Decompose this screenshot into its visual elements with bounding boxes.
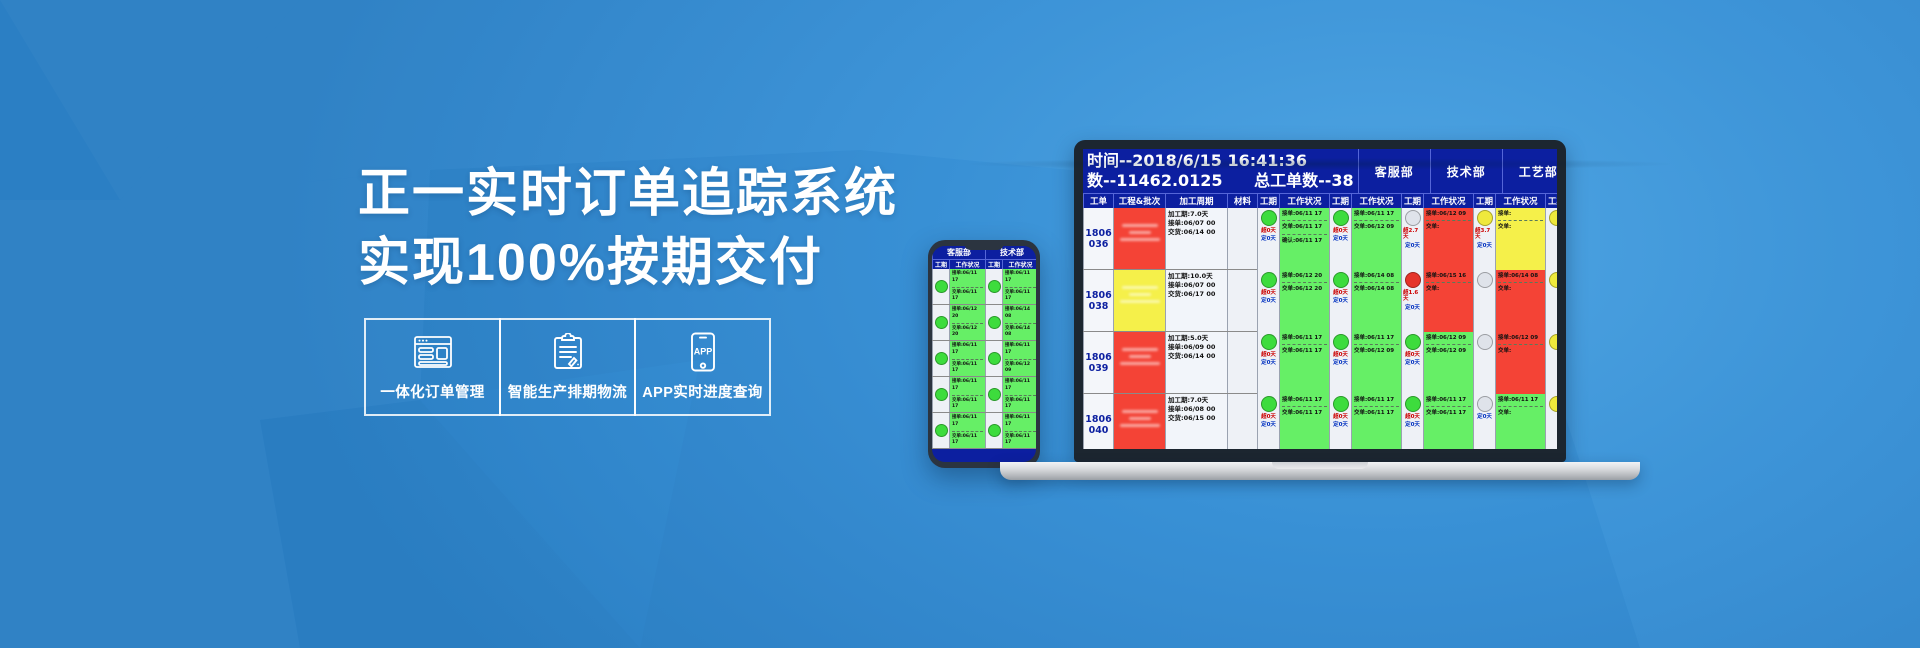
info-separator <box>1426 406 1471 407</box>
dept-duration-cell-5[interactable] <box>1545 270 1557 332</box>
order-grid: 1806036加工期:7.0天接单:06/07 00交货:06/14 00超0天… <box>1083 208 1557 449</box>
fixed-days-tag: 定0天 <box>1261 236 1276 242</box>
processing-cycle-cell: 加工期:10.0天接单:06/07 00交货:06/17 00 <box>1165 270 1227 331</box>
dept-status-cell-4[interactable]: 接单:06/11 17交单: <box>1495 394 1545 449</box>
redacted-text <box>1129 293 1151 296</box>
column-header-工程&批次: 工程&批次 <box>1113 193 1165 208</box>
status-dot-g <box>1333 334 1349 350</box>
phone-status-line: 接单:06/11 17 <box>952 379 983 393</box>
status-line: 接单:06/12 09 <box>1498 334 1543 342</box>
redacted-text <box>1122 410 1158 413</box>
status-line: 接单:06/11 17 <box>1282 334 1327 342</box>
phone-status-dot-g <box>988 424 1001 437</box>
over-days-tag: 超1.6天 <box>1403 290 1422 303</box>
fixed-days-tag: 定0天 <box>1477 243 1492 249</box>
status-line: 接单:06/12 09 <box>1426 210 1471 218</box>
fixed-days-tag: 定0天 <box>1405 360 1420 366</box>
table-row[interactable]: 1806038加工期:10.0天接单:06/07 00交货:06/17 00超0… <box>1083 270 1557 332</box>
processing-cycle-cell: 加工期:5.0天接单:06/09 00交货:06/14 00 <box>1165 332 1227 393</box>
info-separator <box>1282 234 1327 235</box>
dept-status-cell-1[interactable]: 接单:06/11 17交单:06/11 17 <box>1279 332 1329 394</box>
column-header-row: 工单工程&批次加工周期材料工期工作状况工期工作状况工期工作状况工期工作状况工期工… <box>1083 193 1557 208</box>
phone-status-line: 交单:06/11 17 <box>952 362 983 376</box>
column-header-工艺部-工期: 工期 <box>1401 193 1423 208</box>
cycle-text: 加工期:10.0天 <box>1168 272 1225 281</box>
work-order-prefix: 1806 <box>1085 414 1111 425</box>
table-row[interactable]: 1806040加工期:7.0天接单:06/08 00交货:06/15 00超0天… <box>1083 394 1557 449</box>
phone-status-line: 交单:06/11 17 <box>952 434 983 448</box>
column-header-生产部-工期: 工期 <box>1473 193 1495 208</box>
status-line: 接单:06/12 20 <box>1282 272 1327 280</box>
work-order-cell: 1806040 <box>1083 394 1113 449</box>
status-line: 接单:06/11 17 <box>1282 396 1327 404</box>
status-line: 接单:06/11 17 <box>1354 396 1399 404</box>
over-days-tag: 超2.7天 <box>1403 228 1422 241</box>
status-line: 接单:06/14 08 <box>1354 272 1399 280</box>
status-line: 交单: <box>1498 285 1543 293</box>
work-order-cell: 1806036 <box>1083 208 1113 269</box>
status-line: 交单:06/11 17 <box>1282 409 1327 417</box>
dept-duration-cell-4[interactable] <box>1473 270 1495 332</box>
column-header-工艺部-工作状况: 工作状况 <box>1423 193 1473 208</box>
phone-status-dot-g <box>988 388 1001 401</box>
info-separator <box>1498 344 1543 345</box>
feature-item-app-progress[interactable]: APP APP实时进度查询 <box>634 318 771 416</box>
table-row[interactable]: 1806036加工期:7.0天接单:06/07 00交货:06/14 00超0天… <box>1083 208 1557 270</box>
phone-column-header-客服部-工作状况: 工作状况 <box>949 259 985 269</box>
phone-dept-duration-cell-1[interactable] <box>932 413 949 448</box>
phone-dept-status-cell-1[interactable]: 接单:06/12 20交单:06/12 20 <box>949 305 985 340</box>
fixed-days-tag: 定0天 <box>1261 298 1276 304</box>
dept-status-cell-2[interactable]: 接单:06/11 17交单:06/12 09 <box>1351 208 1401 270</box>
window-list-icon <box>413 332 453 372</box>
info-separator <box>1282 406 1327 407</box>
dept-duration-cell-1[interactable]: 超0天定0天 <box>1257 332 1279 394</box>
feature-item-smart-scheduling[interactable]: 智能生产排期物流 <box>499 318 636 416</box>
fixed-days-tag: 定0天 <box>1405 243 1420 249</box>
fixed-days-tag: 定0天 <box>1333 298 1348 304</box>
phone-status-dot-g <box>935 280 948 293</box>
department-header-2: 技术部 <box>1430 149 1502 193</box>
status-line: 接单:06/14 08 <box>1498 272 1543 280</box>
status-dot-y <box>1549 210 1558 226</box>
laptop-shadow <box>970 158 1670 170</box>
column-header-工单: 工单 <box>1083 193 1113 208</box>
info-separator <box>1426 220 1471 221</box>
info-separator <box>1282 282 1327 283</box>
status-line: 接单:06/11 17 <box>1354 334 1399 342</box>
over-days-tag: 超0天 <box>1333 414 1348 420</box>
work-order-suffix: 040 <box>1089 425 1109 436</box>
over-days-tag: 超0天 <box>1333 352 1348 358</box>
status-line: 确认:06/11 17 <box>1282 237 1327 245</box>
info-separator <box>1354 406 1399 407</box>
status-line: 交单:06/11 17 <box>1282 223 1327 231</box>
dept-duration-cell-1[interactable]: 超0天定0天 <box>1257 208 1279 270</box>
dashboard-meta: 时间--2018/6/15 16:41:36 数--11462.0125 总工单… <box>1083 149 1358 193</box>
cycle-text: 加工期:5.0天 <box>1168 334 1225 343</box>
project-batch-cell <box>1113 270 1165 331</box>
phone-status-line: 接单:06/11 17 <box>952 415 983 429</box>
phone-status-dot-g <box>988 316 1001 329</box>
receive-date: 接单:06/08 00 <box>1168 405 1225 414</box>
deliver-date: 交货:06/15 00 <box>1168 414 1225 423</box>
page-title-line2: 实现100%按期交付 <box>358 229 918 298</box>
status-dot-g <box>1261 334 1277 350</box>
fixed-days-tag: 定0天 <box>1261 360 1276 366</box>
column-header-技术部-工作状况: 工作状况 <box>1351 193 1401 208</box>
status-line: 接单:06/11 17 <box>1354 210 1399 218</box>
dept-status-cell-4[interactable]: 接单:06/12 09交单: <box>1495 332 1545 394</box>
over-days-tag: 超0天 <box>1261 414 1276 420</box>
feature-label: 一体化订单管理 <box>380 381 484 402</box>
info-separator <box>1282 220 1327 221</box>
phone-status-line: 交单:06/11 17 <box>952 398 983 412</box>
dept-duration-cell-2[interactable]: 超0天定0天 <box>1329 208 1351 270</box>
status-line: 交单:06/12 09 <box>1426 347 1471 355</box>
status-dot-r <box>1405 272 1421 288</box>
redacted-text <box>1120 424 1160 427</box>
dept-duration-cell-5[interactable] <box>1545 332 1557 394</box>
status-line: 交单: <box>1498 223 1543 231</box>
phone-info-separator <box>952 323 983 324</box>
processing-cycle-cell: 加工期:7.0天接单:06/08 00交货:06/15 00 <box>1165 394 1227 449</box>
phone-dept-status-cell-1[interactable]: 接单:06/11 17交单:06/11 17 <box>949 341 985 376</box>
status-dot-y <box>1477 210 1493 226</box>
phone-dept-duration-cell-1[interactable] <box>932 269 949 304</box>
status-dot-w <box>1477 396 1493 412</box>
redacted-text <box>1122 348 1158 351</box>
column-header-生产部-工作状况: 工作状况 <box>1495 193 1545 208</box>
column-header-材料: 材料 <box>1227 193 1257 208</box>
laptop-screen[interactable]: 时间--2018/6/15 16:41:36 数--11462.0125 总工单… <box>1083 149 1557 449</box>
deliver-date: 交货:06/14 00 <box>1168 352 1225 361</box>
fixed-days-tag: 定0天 <box>1333 360 1348 366</box>
fixed-days-tag: 定0天 <box>1477 414 1492 420</box>
phone-status-line: 接单:06/11 17 <box>952 271 983 285</box>
dept-duration-cell-4[interactable]: 超3.7天定0天 <box>1473 208 1495 270</box>
dept-status-cell-3[interactable]: 接单:06/15 16交单: <box>1423 270 1473 332</box>
dept-status-cell-2[interactable]: 接单:06/11 17交单:06/11 17 <box>1351 394 1401 449</box>
deliver-date: 交货:06/14 00 <box>1168 228 1225 237</box>
phone-status-dot-g <box>935 388 948 401</box>
material-cell <box>1227 332 1257 393</box>
status-line: 交单:06/14 08 <box>1354 285 1399 293</box>
phone-info-separator <box>952 359 983 360</box>
column-header-客服部-工期: 工期 <box>1257 193 1279 208</box>
phone-status-line: 接单:06/12 20 <box>952 307 983 321</box>
dept-status-cell-1[interactable]: 接单:06/11 17交单:06/11 17确认:06/11 17 <box>1279 208 1329 270</box>
phone-info-separator <box>952 287 983 288</box>
feature-list: 一体化订单管理 智能生产排期物流 APP AP <box>364 318 769 416</box>
column-header-客服部-工作状况: 工作状况 <box>1279 193 1329 208</box>
phone-dept-duration-cell-1[interactable] <box>932 377 949 412</box>
phone-info-separator <box>952 395 983 396</box>
fixed-days-tag: 定0天 <box>1405 305 1420 311</box>
dept-status-cell-3[interactable]: 接单:06/12 09交单: <box>1423 208 1473 270</box>
over-days-tag: 超0天 <box>1333 290 1348 296</box>
redacted-text <box>1120 238 1160 241</box>
fixed-days-tag: 定0天 <box>1261 422 1276 428</box>
cycle-text: 加工期:7.0天 <box>1168 396 1225 405</box>
status-line: 交单: <box>1498 409 1543 417</box>
department-header-1: 客服部 <box>1358 149 1430 193</box>
dept-duration-cell-4[interactable]: 定0天 <box>1473 394 1495 449</box>
status-line: 交单:06/12 20 <box>1282 285 1327 293</box>
status-dot-g <box>1405 396 1421 412</box>
dept-status-cell-4[interactable]: 接单:06/14 08交单: <box>1495 270 1545 332</box>
page-title-line1: 正一实时订单追踪系统 <box>358 160 918 229</box>
laptop-device: 时间--2018/6/15 16:41:36 数--11462.0125 总工单… <box>1000 140 1640 480</box>
over-days-tag: 超0天 <box>1261 228 1276 234</box>
info-separator <box>1354 220 1399 221</box>
phone-status-line: 交单:06/12 20 <box>952 326 983 340</box>
work-order-suffix: 039 <box>1089 363 1109 374</box>
dashboard-header: 时间--2018/6/15 16:41:36 数--11462.0125 总工单… <box>1083 149 1557 193</box>
status-dot-g <box>1261 272 1277 288</box>
department-header-3: 工艺部 <box>1502 149 1557 193</box>
receive-date: 接单:06/07 00 <box>1168 281 1225 290</box>
phone-status-dot-g <box>935 316 948 329</box>
info-separator <box>1354 282 1399 283</box>
table-row[interactable]: 1806039加工期:5.0天接单:06/09 00交货:06/14 00超0天… <box>1083 332 1557 394</box>
feature-label: 智能生产排期物流 <box>508 381 627 402</box>
status-dot-g <box>1333 210 1349 226</box>
dept-duration-cell-4[interactable] <box>1473 332 1495 394</box>
info-separator <box>1498 220 1543 221</box>
redacted-text <box>1120 362 1160 365</box>
dept-duration-cell-1[interactable]: 超0天定0天 <box>1257 270 1279 332</box>
info-separator <box>1426 344 1471 345</box>
info-separator <box>1282 344 1327 345</box>
dept-duration-cell-5[interactable] <box>1545 208 1557 270</box>
processing-cycle-cell: 加工期:7.0天接单:06/07 00交货:06/14 00 <box>1165 208 1227 269</box>
status-line: 交单: <box>1426 285 1471 293</box>
dept-duration-cell-3[interactable]: 超1.6天定0天 <box>1401 270 1423 332</box>
receive-date: 接单:06/09 00 <box>1168 343 1225 352</box>
fixed-days-tag: 定0天 <box>1333 236 1348 242</box>
status-dot-w <box>1477 272 1493 288</box>
phone-dept-duration-cell-1[interactable] <box>932 305 949 340</box>
work-order-cell: 1806039 <box>1083 332 1113 393</box>
project-batch-cell <box>1113 394 1165 449</box>
over-days-tag: 超0天 <box>1405 414 1420 420</box>
status-line: 交单:06/12 09 <box>1354 223 1399 231</box>
status-line: 交单:06/11 17 <box>1282 347 1327 355</box>
clipboard-pen-icon <box>551 332 585 372</box>
feature-label: APP实时进度查询 <box>642 381 762 402</box>
dept-status-cell-3[interactable]: 接单:06/11 17交单:06/11 17 <box>1423 394 1473 449</box>
dept-duration-cell-2[interactable]: 超0天定0天 <box>1329 270 1351 332</box>
status-line: 交单:06/11 17 <box>1426 409 1471 417</box>
fixed-days-tag: 定0天 <box>1333 422 1348 428</box>
status-dot-y <box>1549 334 1558 350</box>
status-dot-g <box>1261 210 1277 226</box>
status-line: 交单: <box>1498 347 1543 355</box>
phone-dept-duration-cell-1[interactable] <box>932 341 949 376</box>
phone-column-header-客服部-工期: 工期 <box>932 259 949 269</box>
dept-duration-cell-3[interactable]: 超2.7天定0天 <box>1401 208 1423 270</box>
work-order-prefix: 1806 <box>1085 228 1111 239</box>
status-line: 接单:06/11 17 <box>1498 396 1543 404</box>
phone-status-dot-g <box>988 352 1001 365</box>
status-dot-y <box>1549 272 1558 288</box>
phone-notch <box>964 243 1004 250</box>
status-dot-w <box>1405 210 1421 226</box>
over-days-tag: 超0天 <box>1261 290 1276 296</box>
feature-item-order-management[interactable]: 一体化订单管理 <box>364 318 501 416</box>
laptop-base <box>1000 462 1640 480</box>
phone-status-line: 交单:06/11 17 <box>952 290 983 304</box>
phone-info-separator <box>952 431 983 432</box>
status-line: 接单: <box>1498 210 1543 218</box>
column-header-跟单部-工期: 工期 <box>1545 193 1557 208</box>
deliver-date: 交货:06/17 00 <box>1168 290 1225 299</box>
dept-status-cell-4[interactable]: 接单:交单: <box>1495 208 1545 270</box>
status-line: 接单:06/12 09 <box>1426 334 1471 342</box>
column-header-加工周期: 加工周期 <box>1165 193 1227 208</box>
dept-duration-cell-5[interactable] <box>1545 394 1557 449</box>
status-line: 交单:06/11 17 <box>1354 409 1399 417</box>
material-cell <box>1227 270 1257 331</box>
status-dot-g <box>1333 272 1349 288</box>
status-dot-w <box>1477 334 1493 350</box>
redacted-text <box>1122 286 1158 289</box>
dept-status-cell-3[interactable]: 接单:06/12 09交单:06/12 09 <box>1423 332 1473 394</box>
work-order-prefix: 1806 <box>1085 352 1111 363</box>
department-header-row: 客服部技术部工艺部生产部跟单部 <box>1358 149 1557 193</box>
work-order-suffix: 038 <box>1089 301 1109 312</box>
over-days-tag: 超3.7天 <box>1475 228 1494 241</box>
status-dot-g <box>1261 396 1277 412</box>
info-separator <box>1426 282 1471 283</box>
status-line: 接单:06/15 16 <box>1426 272 1471 280</box>
laptop-lid: 时间--2018/6/15 16:41:36 数--11462.0125 总工单… <box>1074 140 1566 462</box>
over-days-tag: 超0天 <box>1405 352 1420 358</box>
dept-status-cell-1[interactable]: 接单:06/12 20交单:06/12 20 <box>1279 270 1329 332</box>
info-separator <box>1498 282 1543 283</box>
status-dot-g <box>1405 334 1421 350</box>
dept-status-cell-2[interactable]: 接单:06/14 08交单:06/14 08 <box>1351 270 1401 332</box>
redacted-text <box>1129 417 1151 420</box>
svg-text:APP: APP <box>693 347 712 357</box>
project-batch-cell <box>1113 332 1165 393</box>
status-line: 交单: <box>1426 223 1471 231</box>
column-header-技术部-工期: 工期 <box>1329 193 1351 208</box>
status-dot-y <box>1549 396 1558 412</box>
redacted-text <box>1122 224 1158 227</box>
cycle-text: 加工期:7.0天 <box>1168 210 1225 219</box>
work-order-suffix: 036 <box>1089 239 1109 250</box>
smartphone-app-icon: APP <box>689 332 717 372</box>
phone-status-dot-g <box>935 352 948 365</box>
status-line: 交单:06/12 09 <box>1354 347 1399 355</box>
dept-duration-cell-2[interactable]: 超0天定0天 <box>1329 332 1351 394</box>
info-separator <box>1498 406 1543 407</box>
phone-dept-status-cell-1[interactable]: 接单:06/11 17交单:06/11 17 <box>949 377 985 412</box>
dept-duration-cell-3[interactable]: 超0天定0天 <box>1401 332 1423 394</box>
redacted-text <box>1129 231 1151 234</box>
phone-status-dot-g <box>988 280 1001 293</box>
hero-copy: 正一实时订单追踪系统 实现100%按期交付 <box>358 160 918 297</box>
work-order-cell: 1806038 <box>1083 270 1113 331</box>
material-cell <box>1227 208 1257 269</box>
over-days-tag: 超0天 <box>1261 352 1276 358</box>
over-days-tag: 超0天 <box>1333 228 1348 234</box>
dept-duration-cell-2[interactable]: 超0天定0天 <box>1329 394 1351 449</box>
receive-date: 接单:06/07 00 <box>1168 219 1225 228</box>
info-separator <box>1354 344 1399 345</box>
status-line: 接单:06/11 17 <box>1426 396 1471 404</box>
fixed-days-tag: 定0天 <box>1405 422 1420 428</box>
dashboard-total-orders: 总工单数--38 <box>1228 171 1354 190</box>
work-order-prefix: 1806 <box>1085 290 1111 301</box>
phone-status-dot-g <box>935 424 948 437</box>
status-line: 接单:06/11 17 <box>1282 210 1327 218</box>
phone-dept-status-cell-1[interactable]: 接单:06/11 17交单:06/11 17 <box>949 269 985 304</box>
status-dot-g <box>1333 396 1349 412</box>
phone-dept-status-cell-1[interactable]: 接单:06/11 17交单:06/11 17 <box>949 413 985 448</box>
dept-duration-cell-1[interactable]: 超0天定0天 <box>1257 394 1279 449</box>
dept-duration-cell-3[interactable]: 超0天定0天 <box>1401 394 1423 449</box>
dept-status-cell-2[interactable]: 接单:06/11 17交单:06/12 09 <box>1351 332 1401 394</box>
project-batch-cell <box>1113 208 1165 269</box>
dept-status-cell-1[interactable]: 接单:06/11 17交单:06/11 17 <box>1279 394 1329 449</box>
redacted-text <box>1129 355 1151 358</box>
dashboard-count: 数--11462.0125 <box>1087 171 1223 190</box>
material-cell <box>1227 394 1257 449</box>
redacted-text <box>1120 300 1160 303</box>
phone-status-line: 接单:06/11 17 <box>952 343 983 357</box>
